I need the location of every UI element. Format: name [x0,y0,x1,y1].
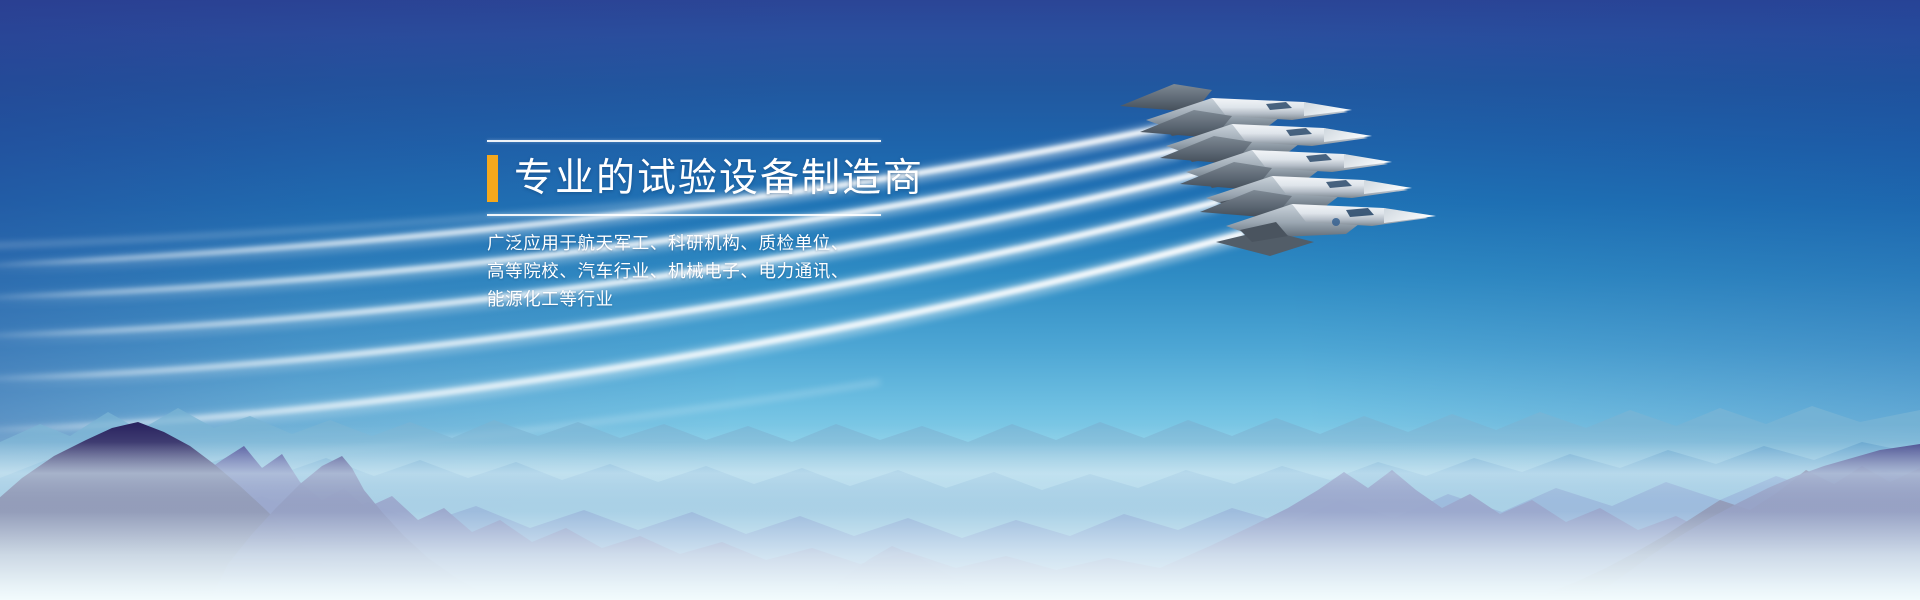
banner-subtitle: 广泛应用于航天军工、科研机构、质检单位、 高等院校、汽车行业、机械电子、电力通讯… [487,229,907,313]
hero-banner: 专业的试验设备制造商 广泛应用于航天军工、科研机构、质检单位、 高等院校、汽车行… [0,0,1920,600]
jet-formation [1130,48,1510,283]
subtitle-line-1: 广泛应用于航天军工、科研机构、质检单位、 [487,229,907,257]
mountain-range-group [0,350,1920,600]
subtitle-line-2: 高等院校、汽车行业、机械电子、电力通讯、 [487,257,907,285]
banner-headline: 专业的试验设备制造商 [514,159,924,198]
banner-copy-block: 专业的试验设备制造商 广泛应用于航天军工、科研机构、质检单位、 高等院校、汽车行… [487,140,907,313]
subtitle-line-3: 能源化工等行业 [487,285,907,313]
orange-accent-bar [487,155,498,202]
headline-rule-bottom [487,214,881,216]
headline-row: 专业的试验设备制造商 [487,142,907,214]
